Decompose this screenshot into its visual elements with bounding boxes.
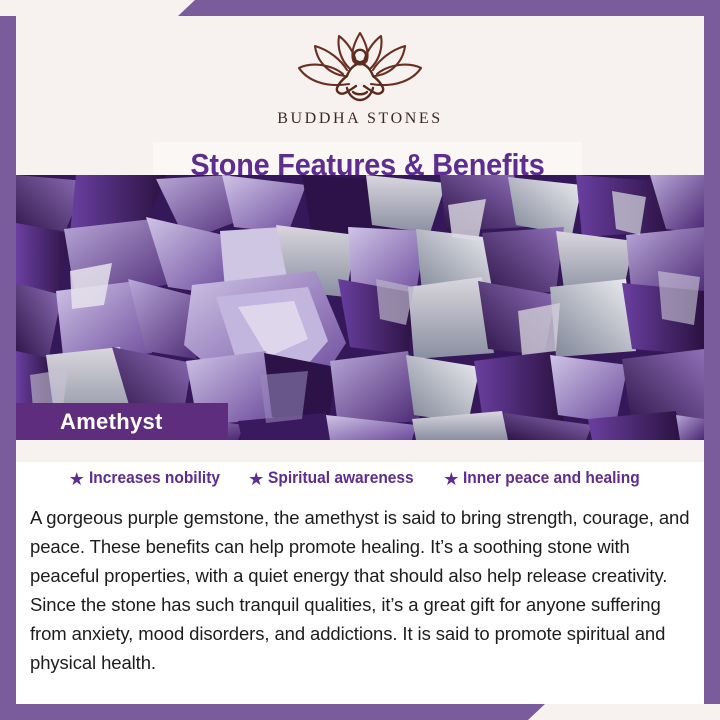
- content-panel: ★ Increases nobility ★ Spiritual awarene…: [16, 440, 704, 704]
- stone-name-banner: Amethyst: [16, 403, 228, 440]
- star-icon: ★: [69, 470, 85, 488]
- benefit-item: ★ Increases nobility: [69, 469, 229, 488]
- stone-name-label: Amethyst: [60, 409, 163, 435]
- benefit-label: Spiritual awareness: [268, 469, 414, 488]
- amethyst-crystal-cluster-photo: [16, 175, 704, 440]
- benefit-item: ★ Spiritual awareness: [248, 469, 423, 488]
- star-icon: ★: [248, 470, 264, 488]
- page-body: BUDDHA STONES Stone Features & Benefits: [16, 16, 704, 704]
- benefits-row: ★ Increases nobility ★ Spiritual awarene…: [16, 469, 704, 488]
- lotus-meditation-figure-icon: [285, 30, 435, 108]
- frame-bottom-band: [0, 704, 720, 720]
- frame-left-strip: [0, 16, 16, 720]
- benefit-label: Inner peace and healing: [463, 469, 640, 488]
- benefit-label: Increases nobility: [89, 469, 220, 488]
- content-top-tint: [16, 440, 704, 462]
- star-icon: ★: [443, 470, 459, 488]
- benefit-item: ★ Inner peace and healing: [443, 469, 651, 488]
- stone-description: A gorgeous purple gemstone, the amethyst…: [30, 503, 694, 677]
- infographic-card: BUDDHA STONES Stone Features & Benefits: [0, 0, 720, 720]
- brand-wordmark: BUDDHA STONES: [277, 110, 443, 128]
- frame-right-strip: [704, 0, 720, 704]
- frame-top-band: [0, 0, 720, 16]
